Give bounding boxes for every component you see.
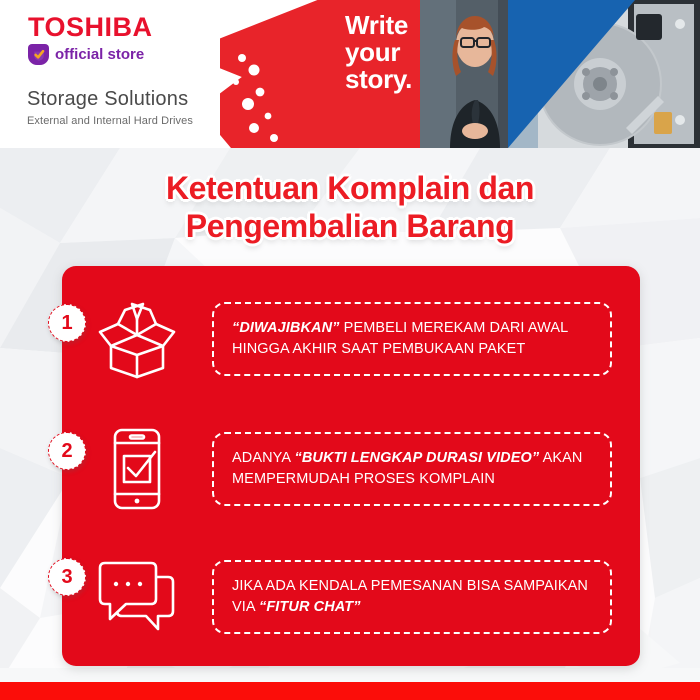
storage-solutions-title: Storage Solutions: [27, 88, 188, 111]
terms-text-2-emphasis: “BUKTI LENGKAP DURASI VIDEO”: [294, 450, 539, 466]
harddrive-illustration: [508, 0, 700, 148]
page-title-line-2: Pengembalian Barang: [0, 208, 700, 246]
terms-item-3: 3 JIKA ADA KENDALA PEMESANAN BISA SAMPAI…: [62, 536, 640, 658]
phone-checkmark-icon: [62, 426, 212, 512]
terms-text-1: “DIWAJIBKAN” PEMBELI MEREKAM DARI AWAL H…: [212, 302, 612, 376]
tagline-line-3: story.: [345, 66, 412, 93]
footer-stripe: [0, 682, 700, 700]
toshiba-wordmark: TOSHIBA: [28, 12, 153, 43]
terms-card: 1 “DIWAJIBKAN” PEMBELI MEREKAM DARI AWAL…: [62, 266, 640, 666]
terms-item-2: 2 ADANYA “BUKTI LENGKAP DURASI VIDEO” AK…: [62, 408, 640, 530]
brand-block: TOSHIBA official store Storage Solutions…: [0, 0, 220, 148]
official-store-label: official store: [55, 46, 144, 63]
tagline: Write your story.: [345, 12, 412, 92]
terms-text-1-emphasis: “DIWAJIBKAN”: [232, 320, 340, 336]
page-title-line-1: Ketentuan Komplain dan: [0, 170, 700, 208]
official-store-badge: official store: [28, 44, 144, 65]
header-banner: TOSHIBA official store Storage Solutions…: [0, 0, 700, 148]
terms-text-2: ADANYA “BUKTI LENGKAP DURASI VIDEO” AKAN…: [212, 432, 612, 506]
step-number-badge-3: 3: [48, 558, 86, 596]
terms-text-2-prefix: ADANYA: [232, 450, 294, 466]
tagline-line-1: Write: [345, 12, 412, 39]
terms-text-3-emphasis: “FITUR CHAT”: [259, 599, 361, 615]
terms-text-3: JIKA ADA KENDALA PEMESANAN BISA SAMPAIKA…: [212, 560, 612, 634]
banner-harddrive-photo: [508, 0, 700, 148]
tagline-line-2: your: [345, 39, 412, 66]
storage-solutions-subtitle: External and Internal Hard Drives: [27, 115, 193, 127]
step-number-badge-1: 1: [48, 304, 86, 342]
terms-item-1: 1 “DIWAJIBKAN” PEMBELI MEREKAM DARI AWAL…: [62, 278, 640, 400]
page-title: Ketentuan Komplain dan Pengembalian Bara…: [0, 170, 700, 246]
step-number-badge-2: 2: [48, 432, 86, 470]
open-box-icon: [62, 299, 212, 379]
shield-check-icon: [28, 44, 49, 65]
